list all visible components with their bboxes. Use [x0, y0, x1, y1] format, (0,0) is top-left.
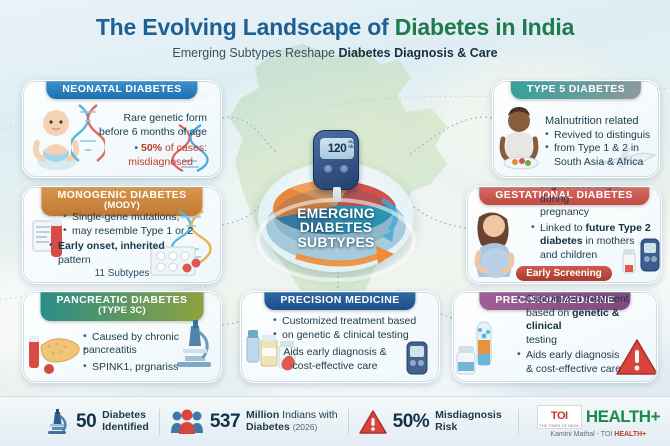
subtitle-bold: Diabetes Diagnosis & Care: [338, 46, 497, 60]
neonatal-lead-1: Rare genetic form: [31, 112, 207, 125]
early-screening-badge: Early Screening: [516, 266, 612, 281]
test-strip-icon: [333, 187, 341, 202]
toi-logo: TOI THE TIMES OF INDIA: [537, 405, 582, 429]
mody-subtype-count: 11 Subtypes: [31, 268, 213, 279]
type5-bullet: Revived to distinguis: [545, 129, 651, 142]
type5-lead: Malnutrition related: [545, 114, 651, 128]
footer-stat-label: Million Indians with Diabetes (2026): [246, 410, 338, 434]
glucometer-button: [340, 165, 348, 173]
precision2-bullet: Customized treatmentbased on genetic & c…: [517, 293, 649, 347]
mody-bullet: may resemble Type 1 or 2: [63, 225, 213, 238]
health-plus-wordmark: HEALTH+: [586, 407, 660, 427]
glucometer-icon: 120 mg/dL: [313, 130, 359, 190]
card-title-neonatal: NEONATAL DIABETES: [46, 80, 197, 99]
pancreatic-bullet: Caused by chronic: [83, 331, 213, 344]
mody-bullet: Single-gene mutations,: [63, 211, 213, 224]
card-gestational-diabetes[interactable]: GESTATIONAL DIABETES High blood sugar du…: [466, 186, 662, 284]
glucometer-unit: mg/dL: [348, 140, 355, 150]
pancreatic-bullet-cont: pancreatitis: [83, 344, 213, 357]
center-hub: 120 mg/dL EMERGING DIABETES SUBTYPES: [256, 122, 416, 284]
footer-stat-diabetes-identified: 50 Diabetes Identified: [34, 405, 159, 439]
microscope-icon: [44, 408, 70, 436]
brand-logo[interactable]: TOI THE TIMES OF INDIA HEALTH+ Kamini Ma…: [537, 405, 670, 438]
page-title: The Evolving Landscape of Diabetes in In…: [0, 14, 670, 41]
hub-label-line2: DIABETES: [256, 220, 416, 234]
pancreatic-bullet: SPINK1, prgnariss: [83, 361, 213, 374]
card-precision-medicine-2[interactable]: PRECISION MEDICINE Customized treatmentb…: [452, 291, 658, 383]
footer-stat-indians-with-diabetes: 537 Million Indians with Diabetes (2026): [160, 405, 348, 439]
footer-stat-misdiagnosis-risk: 50% Misdiagnosis Risk: [349, 405, 512, 439]
card-type5-diabetes[interactable]: TYPE 5 DIABETES Malnutrition related Rev…: [492, 80, 660, 178]
infographic-canvas: The Evolving Landscape of Diabetes in In…: [0, 0, 670, 446]
warning-icon: [359, 409, 387, 435]
footer-stat-number: 50%: [393, 411, 430, 433]
neonatal-lead-2: before 6 months of age: [31, 126, 207, 139]
glucometer-button: [324, 165, 332, 173]
type5-bullet: from Type 1 & 2 in: [545, 142, 651, 155]
precision1-bullet: on genetic & clinical testing: [273, 329, 431, 342]
mody-check-line1: Early onset, inherited: [58, 240, 165, 252]
footer-stat-label: Diabetes Identified: [102, 410, 149, 434]
precision2-bullet: Aids early diagnosis& cost-effective car…: [517, 349, 649, 376]
card-neonatal-diabetes[interactable]: NEONATAL DIABETES: [22, 80, 222, 178]
neonatal-stat: 50%: [141, 142, 162, 154]
card-title-type5: TYPE 5 DIABETES: [511, 80, 641, 99]
precision1-note-2: cost-effective care: [249, 360, 421, 373]
gestational-bullet: High blood sugar duringpregnancy: [531, 186, 653, 220]
title-part-1: The Evolving Landscape of: [96, 14, 395, 40]
card-precision-medicine-1[interactable]: PRECISION MEDICINE Customized treatment …: [240, 291, 440, 383]
page-subtitle: Emerging Subtypes Reshape Diabetes Diagn…: [0, 46, 670, 60]
title-part-2: Diabetes in India: [395, 14, 574, 40]
people-icon: [170, 409, 204, 435]
card-monogenic-diabetes[interactable]: MONOGENIC DIABETES (MODY): [22, 186, 222, 284]
mody-check-line2: pattern: [31, 254, 213, 267]
gestational-bullet: Linked to future Type 2diabetes in mothe…: [531, 222, 653, 262]
card-pancreatic-diabetes[interactable]: PANCREATIC DIABETES (TYPE 3C) Caused by …: [22, 291, 222, 383]
precision1-bullet: Customized treatment based: [273, 315, 431, 328]
precision1-note-1: Aids early diagnosis &: [249, 346, 421, 359]
footer-stat-number: 537: [210, 411, 240, 433]
byline: Kamini Mathal - TOI HEALTH+: [537, 431, 660, 438]
type5-bullet-cont: South Asia & Africa: [545, 156, 651, 169]
card-title-precision-1: PRECISION MEDICINE: [264, 291, 415, 310]
footer-divider: [518, 409, 519, 435]
subtitle-light: Emerging Subtypes Reshape: [172, 46, 338, 60]
footer-stat-label: Misdiagnosis Risk: [435, 410, 502, 434]
hub-label: EMERGING DIABETES SUBTYPES: [256, 206, 416, 249]
header: The Evolving Landscape of Diabetes in In…: [0, 14, 670, 60]
hub-label-line3: SUBTYPES: [256, 235, 416, 249]
footer-stat-number: 50: [76, 411, 96, 433]
card-subtitle-pancreatic: (TYPE 3C): [57, 306, 188, 317]
neonatal-stat-label: misdiagnosed: [31, 156, 207, 169]
footer-stats-bar: 50 Diabetes Identified 537 Million India…: [0, 396, 670, 446]
